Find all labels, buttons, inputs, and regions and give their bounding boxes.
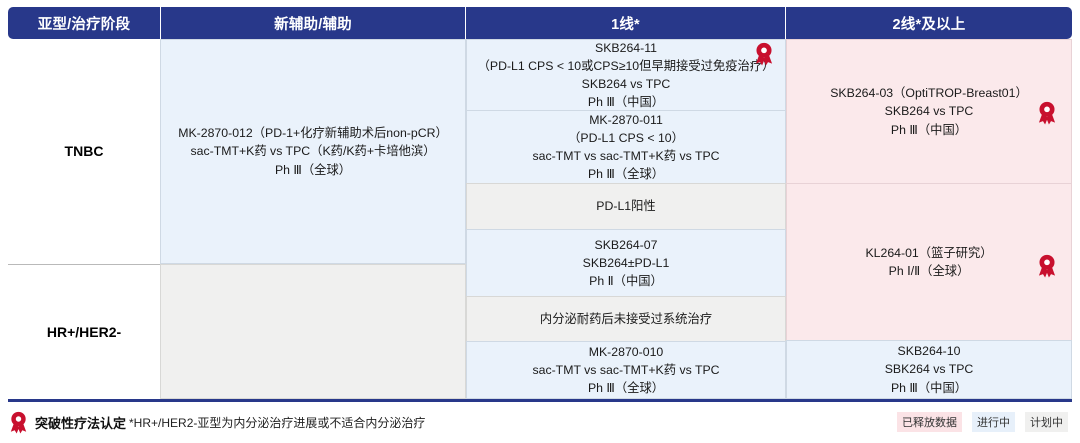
header-cell-first-line: 1线* xyxy=(465,7,785,39)
footer-divider xyxy=(8,399,1072,402)
breakthrough-therapy-label: 突破性疗法认定 xyxy=(35,413,126,432)
table-body: TNBC HR+/HER2- MK-2870-012（PD-1+化疗新辅助术后n… xyxy=(8,39,1072,399)
cell-hr-neoadjuvant-empty xyxy=(160,264,466,399)
row-label-hr-her2: HR+/HER2- xyxy=(8,265,160,399)
status-legend: 已释放数据 进行中 计划中 xyxy=(897,412,1072,432)
header-cell-subtype: 亚型/治疗阶段 xyxy=(8,7,160,39)
header-cell-second-line: 2线*及以上 xyxy=(785,7,1072,39)
footer: 突破性疗法认定 *HR+/HER2-亚型为内分泌治疗进展或不适合内分泌治疗 已释… xyxy=(8,404,1072,440)
legend-item-planned: 计划中 xyxy=(1025,412,1068,432)
cell-skb264-10: SKB264-10SBK264 vs TPCPh Ⅲ（中国） xyxy=(786,340,1072,399)
table-header-row: 亚型/治疗阶段 新辅助/辅助 1线* 2线*及以上 xyxy=(8,7,1072,39)
trial-landscape-table: 亚型/治疗阶段 新辅助/辅助 1线* 2线*及以上 TNBC HR+/HER2-… xyxy=(0,0,1080,443)
cell-mk-2870-010: MK-2870-010sac-TMT vs sac-TMT+K药 vs TPCP… xyxy=(466,341,786,399)
medal-ribbon-icon-skb264-03 xyxy=(1036,101,1058,125)
cell-kl264-01: KL264-01（篮子研究）Ph Ⅰ/Ⅱ（全球） xyxy=(786,183,1072,341)
medal-ribbon-icon-legend xyxy=(8,411,29,434)
footnote-text: *HR+/HER2-亚型为内分泌治疗进展或不适合内分泌治疗 xyxy=(129,414,425,431)
legend-item-released: 已释放数据 xyxy=(897,412,962,432)
cell-pd-l1-positive: PD-L1阳性 xyxy=(466,183,786,230)
cell-tnbc-neoadjuvant: MK-2870-012（PD-1+化疗新辅助术后non-pCR）sac-TMT+… xyxy=(160,39,466,264)
cell-endocrine-resistant-note: 内分泌耐药后未接受过系统治疗 xyxy=(466,296,786,342)
legend-item-ongoing: 进行中 xyxy=(972,412,1015,432)
medal-ribbon-icon-skb264-11 xyxy=(753,42,775,66)
cell-skb264-03: SKB264-03（OptiTROP-Breast01）SKB264 vs TP… xyxy=(786,39,1072,184)
cell-skb264-07: SKB264-07SKB264±PD-L1Ph Ⅱ（中国） xyxy=(466,229,786,297)
row-label-tnbc: TNBC xyxy=(8,39,160,264)
medal-ribbon-icon-kl264-01 xyxy=(1036,254,1058,278)
cell-tnbc-1l-mk-2870-011: MK-2870-011（PD-L1 CPS < 10）sac-TMT vs sa… xyxy=(466,110,786,184)
cell-tnbc-1l-skb264-11: SKB264-11（PD-L1 CPS < 10或CPS≥10但早期接受过免疫治… xyxy=(466,39,786,111)
header-cell-neoadjuvant: 新辅助/辅助 xyxy=(160,7,465,39)
